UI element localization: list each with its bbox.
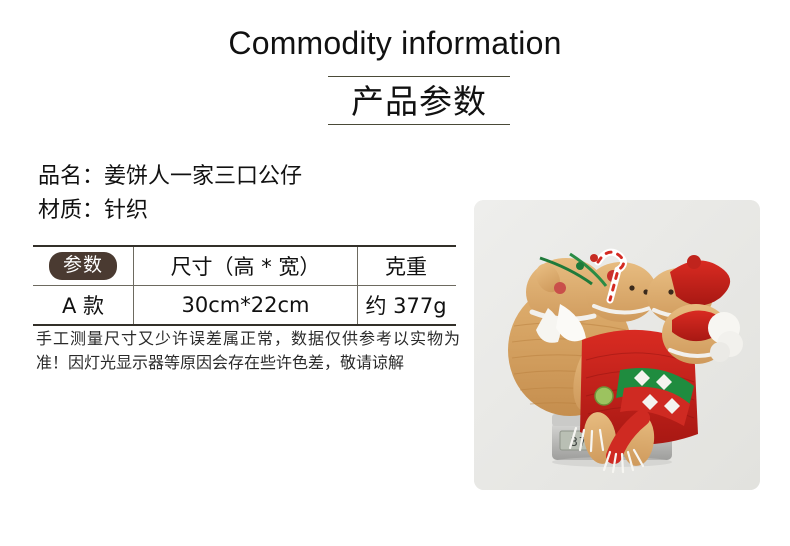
product-photo: 377 [474,200,760,490]
subtitle-rule-top [328,76,510,77]
table-row: A 款 30cm*22cm 约 377g [33,286,456,324]
table-cell-dimensions: 30cm*22cm [133,286,358,324]
table-header-row: 参数 尺寸（高 * 宽） 克重 [33,247,456,286]
table-cell-model: A 款 [33,286,133,324]
product-info-page: Commodity information 产品参数 品名：姜饼人一家三口公仔 … [0,0,790,546]
spec-list: 品名：姜饼人一家三口公仔 材质：针织 [38,160,458,228]
subtitle-text: 产品参数 [328,83,510,121]
table-header-cell-param: 参数 [33,247,133,285]
spec-line-name: 品名：姜饼人一家三口公仔 [38,160,458,194]
param-badge: 参数 [49,252,117,280]
spec-table: 参数 尺寸（高 * 宽） 克重 A 款 30cm*22cm 约 377g [33,245,456,326]
subtitle-block: 产品参数 [328,76,510,125]
subtitle-rule-bottom [328,124,510,125]
spec-line-material: 材质：针织 [38,194,458,228]
table-header-cell-size: 尺寸（高 * 宽） [133,247,358,285]
product-photo-illustration: 377 [474,200,760,490]
page-title: Commodity information [0,24,790,62]
disclaimer-text: 手工测量尺寸又少许误差属正常，数据仅供参考以实物为准！因灯光显示器等原因会存在些… [36,327,460,375]
table-header-cell-weight: 克重 [358,247,454,285]
table-cell-weight: 约 377g [358,286,454,324]
